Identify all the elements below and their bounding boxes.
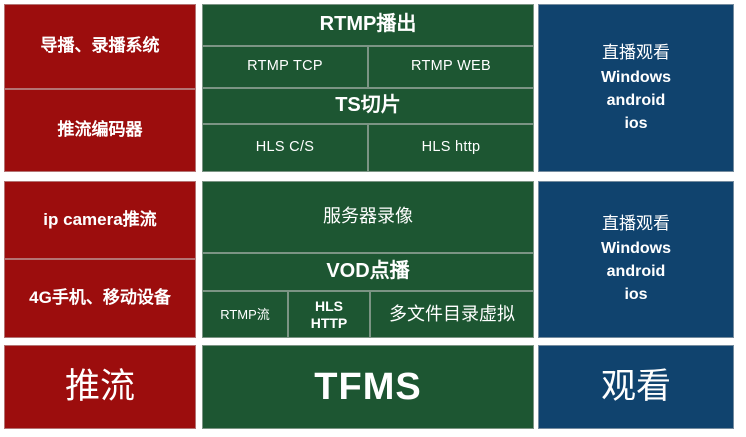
viewer-box-live-group1: 直播观看 Windows android ios — [538, 4, 734, 172]
viewer-line-live: 直播观看 — [602, 41, 670, 66]
service-label-line2: HTTP — [311, 315, 348, 332]
service-label: 服务器录像 — [323, 206, 413, 227]
service-label: HLS C/S — [256, 139, 315, 156]
service-box-rtmp-tcp: RTMP TCP — [202, 46, 368, 88]
service-label: 多文件目录虚拟 — [389, 304, 515, 325]
service-label: HLS http — [422, 139, 481, 156]
footer-text: 推流 — [65, 366, 135, 407]
service-box-hls-http: HLS http — [368, 124, 534, 172]
viewer-line-android: android — [607, 89, 666, 112]
footer-label-tfms: TFMS — [202, 345, 534, 429]
service-label: TS切片 — [335, 94, 401, 118]
source-box-4g-mobile: 4G手机、移动设备 — [4, 259, 196, 338]
source-label: ip camera推流 — [43, 210, 156, 230]
viewer-box-live-group2: 直播观看 Windows android ios — [538, 181, 734, 338]
service-box-rtmp-broadcast: RTMP播出 — [202, 4, 534, 46]
viewer-line-live: 直播观看 — [602, 212, 670, 237]
service-box-rtmp-stream: RTMP流 — [202, 291, 288, 338]
viewer-line-ios: ios — [624, 283, 647, 306]
source-box-push-encoder: 推流编码器 — [4, 89, 196, 172]
service-box-rtmp-web: RTMP WEB — [368, 46, 534, 88]
viewer-line-windows: Windows — [601, 66, 671, 89]
service-label: RTMP WEB — [411, 58, 491, 75]
source-label: 4G手机、移动设备 — [29, 288, 171, 308]
architecture-diagram: 导播、录播系统 推流编码器 RTMP播出 RTMP TCP RTMP WEB T… — [0, 0, 746, 437]
service-box-vod: VOD点播 — [202, 253, 534, 291]
source-box-director-system: 导播、录播系统 — [4, 4, 196, 89]
source-box-ip-camera: ip camera推流 — [4, 181, 196, 259]
service-box-ts-slice: TS切片 — [202, 88, 534, 124]
viewer-line-ios: ios — [624, 112, 647, 135]
service-box-multi-file-virtual-dir: 多文件目录虚拟 — [370, 291, 534, 338]
source-label: 推流编码器 — [58, 120, 143, 140]
viewer-line-android: android — [607, 260, 666, 283]
footer-text: 观看 — [601, 366, 671, 407]
footer-label-watch: 观看 — [538, 345, 734, 429]
footer-text: TFMS — [314, 365, 421, 410]
service-label: RTMP播出 — [320, 13, 417, 37]
service-label-line1: HLS — [315, 298, 343, 315]
viewer-line-windows: Windows — [601, 237, 671, 260]
service-box-hls-http-2: HLS HTTP — [288, 291, 370, 338]
service-label: RTMP TCP — [247, 58, 323, 75]
source-label: 导播、录播系统 — [41, 36, 160, 56]
service-box-server-recording: 服务器录像 — [202, 181, 534, 253]
service-label: RTMP流 — [220, 307, 270, 322]
footer-label-push: 推流 — [4, 345, 196, 429]
service-label: VOD点播 — [326, 260, 409, 284]
service-box-hls-cs: HLS C/S — [202, 124, 368, 172]
